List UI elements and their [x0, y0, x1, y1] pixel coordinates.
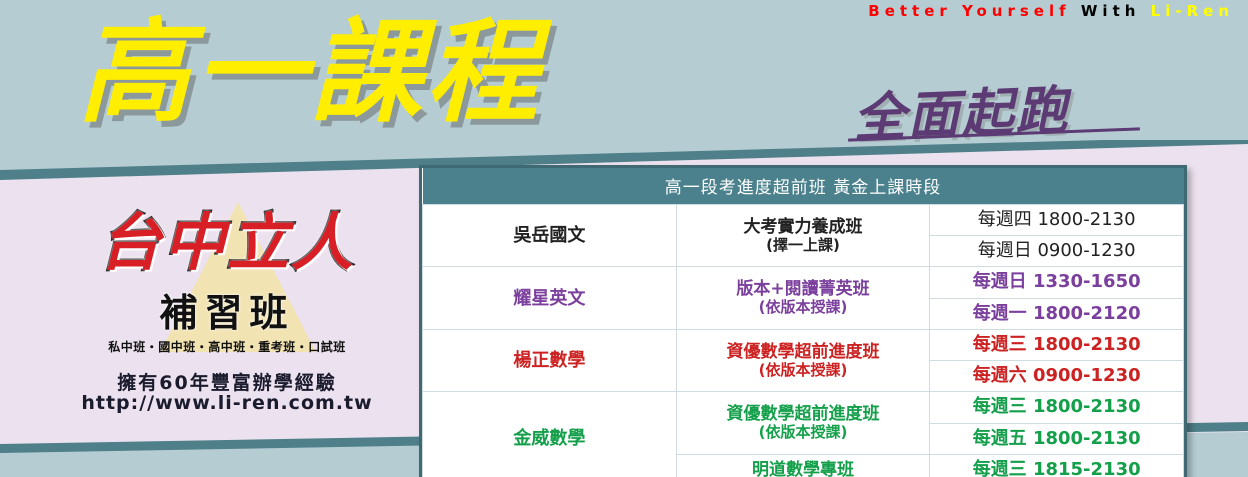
- time-cell: 每週三 1800-2130: [930, 392, 1184, 423]
- course-cell-secondary: 明道數學專班: [676, 454, 930, 477]
- time-cell: 每週一 1800-2120: [930, 298, 1184, 329]
- time-cell: 每週六 0900-1230: [930, 361, 1184, 392]
- schedule-grid: 高一段考進度超前班 黃金上課時段 吳岳國文大考實力養成班(擇一上課)每週四 18…: [422, 168, 1184, 477]
- table-row: 耀星英文版本+閱讀菁英班(依版本授課)每週日 1330-1650: [423, 267, 1184, 298]
- time-cell: 每週四 1800-2130: [930, 205, 1184, 236]
- page-title: 高一課程: [78, 14, 542, 132]
- course-note: (依版本授課): [681, 424, 926, 442]
- logo-experience: 擁有60年豐富辦學經驗: [52, 368, 402, 395]
- teacher-cell: 吳岳國文: [423, 205, 677, 267]
- schedule-table: 高一段考進度超前班 黃金上課時段 吳岳國文大考實力養成班(擇一上課)每週四 18…: [419, 165, 1187, 477]
- course-cell: 資優數學超前進度班(依版本授課): [676, 392, 930, 454]
- course-cell: 版本+閱讀菁英班(依版本授課): [676, 267, 930, 329]
- tagline-part-1: Better Yourself: [868, 2, 1070, 20]
- logo-class-list: 私中班・國中班・高中班・重考班・口試班: [52, 338, 402, 355]
- course-cell: 資優數學超前進度班(依版本授課): [676, 329, 930, 391]
- table-row: 金威數學資優數學超前進度班(依版本授課)每週三 1800-2130: [423, 392, 1184, 423]
- table-row: 楊正數學資優數學超前進度班(依版本授課)每週三 1800-2130: [423, 329, 1184, 360]
- course-note: (擇一上課): [681, 237, 926, 255]
- course-cell: 大考實力養成班(擇一上課): [676, 205, 930, 267]
- promo-banner: Better Yourself With Li-Ren 高一課程 全面起跑 台中…: [0, 0, 1248, 477]
- time-cell: 每週五 1800-2130: [930, 423, 1184, 454]
- tagline-part-2: With: [1081, 2, 1141, 20]
- logo-type: 補習班: [52, 294, 402, 332]
- logo-name: 台中立人: [52, 212, 402, 274]
- schedule-header-row: 高一段考進度超前班 黃金上課時段: [423, 168, 1184, 205]
- tagline-part-3: Li-Ren: [1151, 2, 1234, 20]
- schedule-body: 吳岳國文大考實力養成班(擇一上課)每週四 1800-2130每週日 0900-1…: [423, 205, 1184, 477]
- time-cell: 每週三 1815-2130: [930, 454, 1184, 477]
- time-cell: 每週日 1330-1650: [930, 267, 1184, 298]
- course-note: (依版本授課): [681, 362, 926, 380]
- teacher-cell: 耀星英文: [423, 267, 677, 329]
- schedule-header-title: 高一段考進度超前班 黃金上課時段: [423, 168, 1184, 205]
- teacher-cell: 楊正數學: [423, 329, 677, 391]
- teacher-cell: 金威數學: [423, 392, 677, 477]
- logo-website-url[interactable]: http://www.li-ren.com.tw: [52, 392, 402, 414]
- logo: 台中立人 補習班 私中班・國中班・高中班・重考班・口試班 擁有60年豐富辦學經驗…: [52, 198, 402, 424]
- time-cell: 每週日 0900-1230: [930, 236, 1184, 267]
- table-row: 吳岳國文大考實力養成班(擇一上課)每週四 1800-2130: [423, 205, 1184, 236]
- time-cell: 每週三 1800-2130: [930, 329, 1184, 360]
- course-note: (依版本授課): [681, 299, 926, 317]
